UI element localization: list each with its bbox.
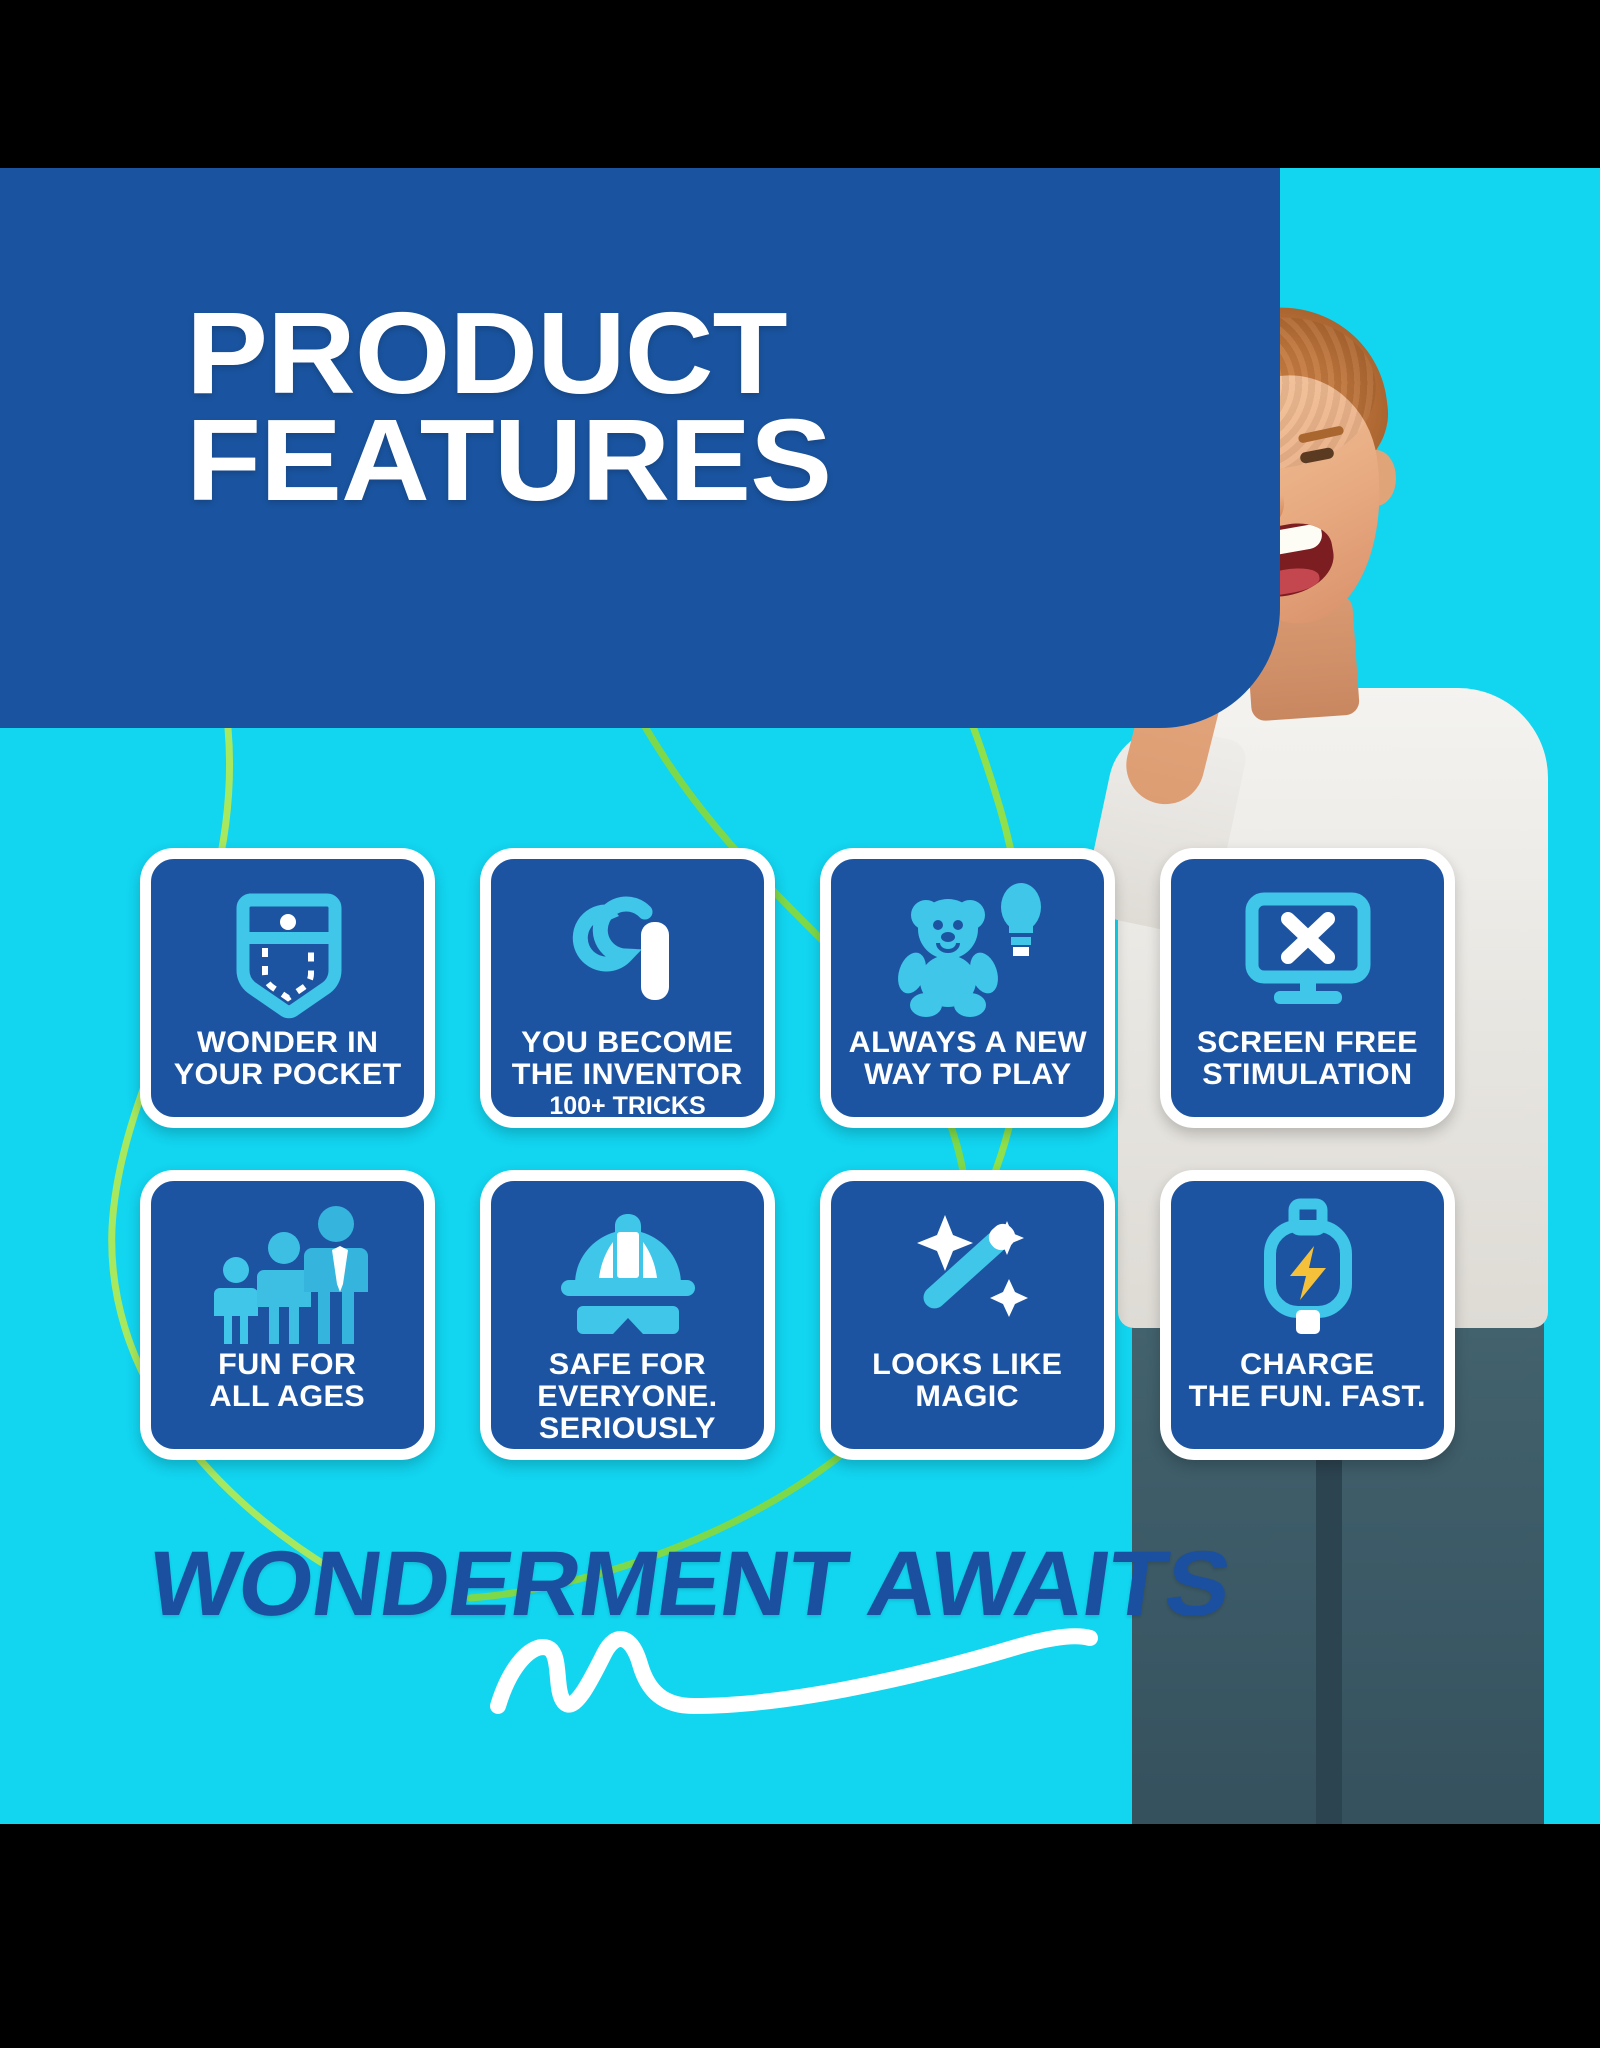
teddy-bear-rattle-icon [888,881,1048,1021]
feature-caption: FUN FOR ALL AGES [210,1349,365,1413]
feature-card-you-become-the-inventor[interactable]: YOU BECOME THE INVENTOR 100+ TRICKS [480,848,775,1128]
footer-tagline: WONDERMENT AWAITS [144,1538,1259,1630]
magic-wand-icon [893,1203,1043,1343]
feature-caption: CHARGE THE FUN. FAST. [1189,1349,1426,1413]
feature-card-safe-for-everyone[interactable]: SAFE FOR EVERYONE. SERIOUSLY [480,1170,775,1460]
feature-subcaption: 100+ TRICKS [549,1093,705,1121]
footer-tagline-block: WONDERMENT AWAITS [150,1538,1210,1630]
feature-card-wonder-in-your-pocket[interactable]: WONDER IN YOUR POCKET [140,848,435,1128]
feature-caption: LOOKS LIKE MAGIC [872,1349,1062,1413]
letterbox-top [0,0,1600,168]
feature-caption: YOU BECOME THE INVENTOR [512,1027,743,1091]
feature-caption: SAFE FOR EVERYONE. SERIOUSLY [537,1349,717,1444]
feature-card-fun-for-all-ages[interactable]: FUN FOR ALL AGES [140,1170,435,1460]
feature-grid: WONDER IN YOUR POCKET YOU BECOME THE INV… [140,848,1470,1460]
infinity-loop-icon [553,881,703,1021]
feature-card-charge-the-fun-fast[interactable]: CHARGE THE FUN. FAST. [1160,1170,1455,1460]
three-people-ages-icon [208,1203,368,1343]
pocket-icon [229,881,347,1021]
feature-caption: SCREEN FREE STIMULATION [1197,1027,1418,1091]
feature-card-screen-free-stimulation[interactable]: SCREEN FREE STIMULATION [1160,848,1455,1128]
hard-hat-goggles-icon [553,1203,703,1343]
feature-caption: WONDER IN YOUR POCKET [174,1027,402,1091]
feature-card-always-a-new-way-to-play[interactable]: ALWAYS A NEW WAY TO PLAY [820,848,1115,1128]
no-screen-icon [1238,881,1378,1021]
page-title: PRODUCT FEATURES [186,300,831,513]
artwork-canvas: PRODUCT FEATURES WONDER IN YOUR POCKET [0,168,1600,1824]
letterbox-bottom [0,1824,1600,2048]
feature-caption: ALWAYS A NEW WAY TO PLAY [848,1027,1086,1091]
feature-card-looks-like-magic[interactable]: LOOKS LIKE MAGIC [820,1170,1115,1460]
infographic-stage: PRODUCT FEATURES WONDER IN YOUR POCKET [0,0,1600,2048]
squiggle-underline-icon [480,1620,1100,1730]
usb-charge-icon [1248,1203,1368,1343]
